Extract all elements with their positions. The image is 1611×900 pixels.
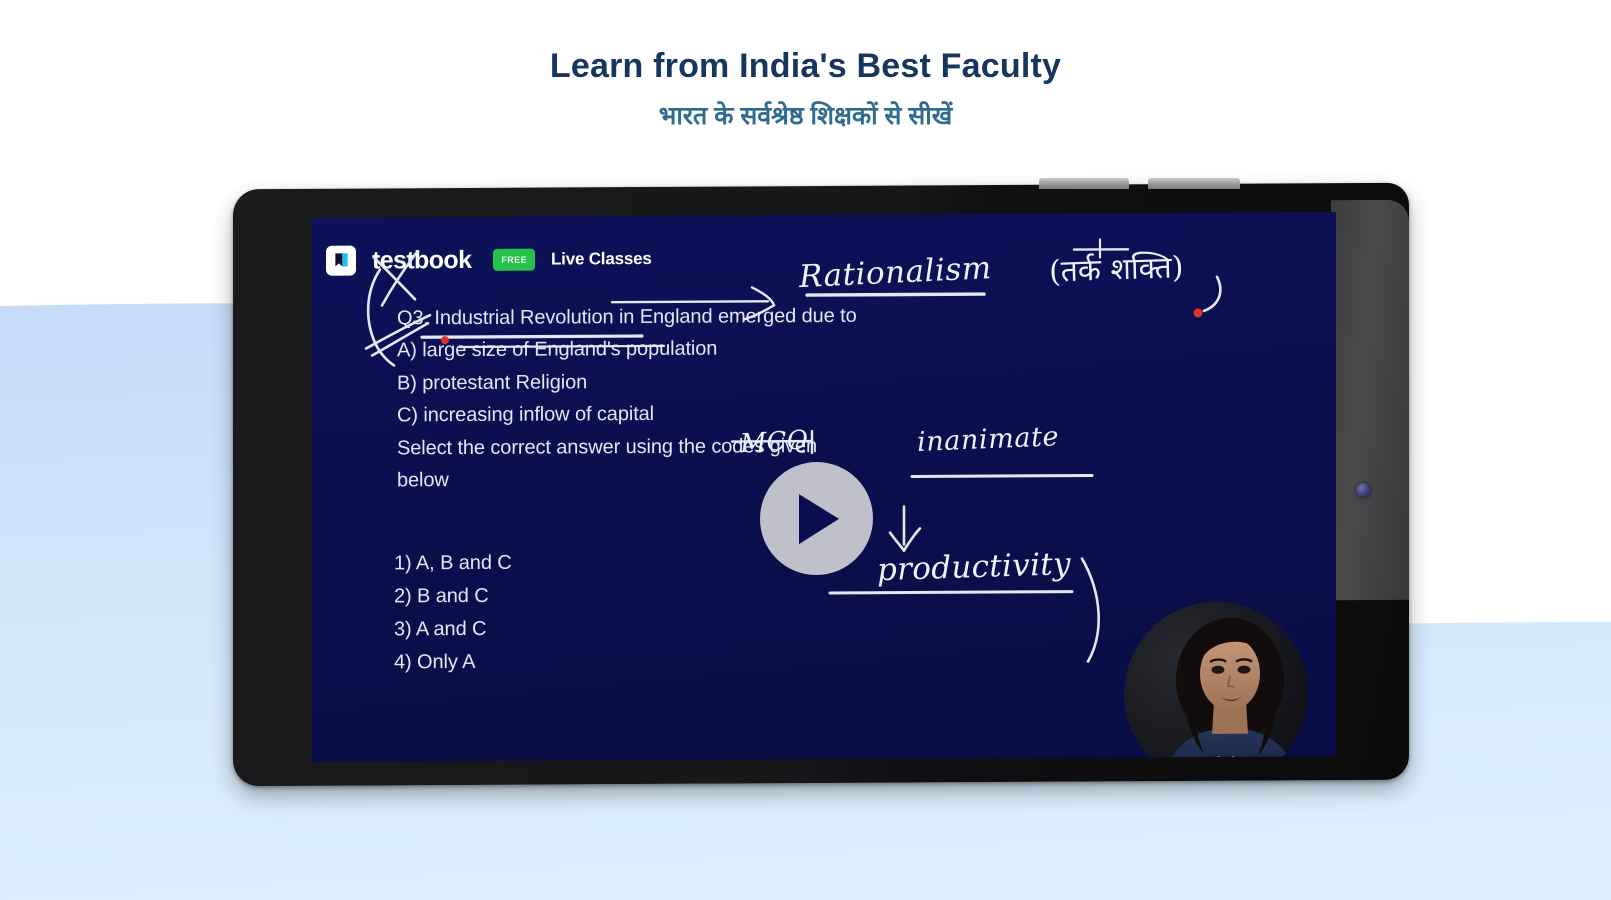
instructor-webcam-pip[interactable]: testbook SuperCoach [1124,601,1308,762]
device-right-edge [1331,200,1409,600]
question-statement-a: A) large size of England's population [397,331,1017,367]
volume-button[interactable] [1039,178,1129,189]
question-statement-b: B) protestant Religion [397,364,1017,400]
question-instruction-line-2: below [397,461,1017,497]
power-button[interactable] [1148,178,1240,189]
free-badge: FREE [493,249,535,271]
play-button[interactable] [760,462,873,576]
tablet-device: testbook FREE Live Classes Q3. Industria… [233,186,1409,783]
page-title: Learn from India's Best Faculty [0,48,1611,85]
ink-hindi-gloss-text: (तर्क शक्ति) [1048,245,1184,290]
ink-mcq-text: MCQ [739,425,808,459]
answer-options-block: 1) A, B and C 2) B and C 3) A and C 4) O… [394,547,512,680]
question-text-block: Q3. Industrial Revolution in England eme… [397,299,1017,497]
answer-option-2[interactable]: 2) B and C [394,580,512,614]
heading-block: Learn from India's Best Faculty भारत के … [0,0,1611,175]
front-camera-icon [1356,483,1371,498]
live-classes-label: Live Classes [551,249,652,270]
play-triangle-icon [791,489,843,547]
answer-option-1[interactable]: 1) A, B and C [394,547,512,581]
ink-inanimate-text: inanimate [917,421,1060,458]
ink-productivity-text: productivity [877,546,1072,588]
page-subtitle: भारत के सर्वश्रेष्ठ शिक्षकों से सीखें [0,101,1611,131]
answer-option-4[interactable]: 4) Only A [394,646,512,680]
brand-logo-text: testbook [372,245,471,275]
question-stem: Q3. Industrial Revolution in England eme… [397,299,1017,335]
answer-option-3[interactable]: 3) A and C [394,613,512,647]
testbook-book-icon [326,246,356,276]
app-bar: testbook FREE Live Classes [326,244,652,276]
tablet-screen[interactable]: testbook FREE Live Classes Q3. Industria… [312,212,1336,762]
avatar [1124,601,1308,762]
